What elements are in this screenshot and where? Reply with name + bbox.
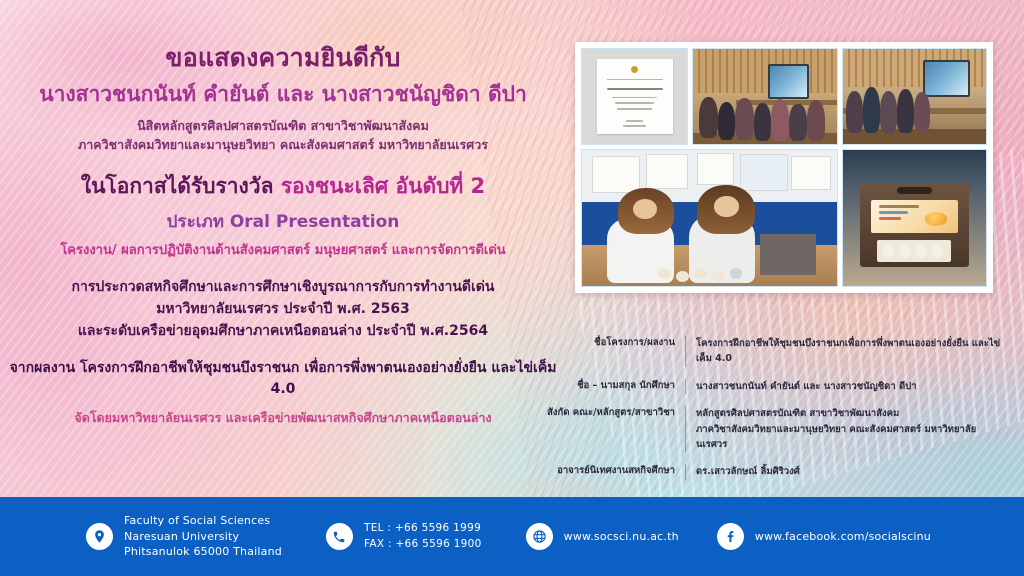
announcement-text-column: ขอแสดงความยินดีกับ นางสาวชนกนันท์ คำยันต… xyxy=(0,44,566,428)
affiliation-block: นิสิตหลักสูตรศิลปศาสตรบัณฑิต สาขาวิชาพัฒ… xyxy=(0,116,566,155)
affiliation-line-1: นิสิตหลักสูตรศิลปศาสตรบัณฑิต สาขาวิชาพัฒ… xyxy=(0,116,566,135)
contact-footer: Faculty of Social Sciences Naresuan Univ… xyxy=(0,497,1024,576)
award-project-category: โครงงาน/ ผลการปฏิบัติงานด้านสังคมศาสตร์ … xyxy=(0,242,566,260)
facebook-icon xyxy=(717,523,744,550)
phone-icon xyxy=(326,523,353,550)
info-label: ชื่อโครงการ/ผลงาน xyxy=(545,336,685,350)
info-label: ชื่อ – นามสกุล นักศึกษา xyxy=(545,379,685,393)
product-box-photo xyxy=(842,149,987,287)
award-rank: รองชนะเลิศ อันดับที่ 2 xyxy=(281,174,485,198)
congratulations-poster: ขอแสดงความยินดีกับ นางสาวชนกนันท์ คำยันต… xyxy=(0,0,1024,576)
fax-number: FAX : +66 5596 1900 xyxy=(364,537,482,552)
info-label: สังกัด คณะ/หลักสูตร/สาขาวิชา xyxy=(545,406,685,420)
meeting-room-photo-2 xyxy=(842,48,987,145)
contest-line-2: มหาวิทยาลัยนเรศวร ประจำปี พ.ศ. 2563 xyxy=(0,299,566,321)
address-line-2: Naresuan University xyxy=(124,529,282,545)
project-info-table: ชื่อโครงการ/ผลงาน โครงการฝึกอาชีพให้ชุมช… xyxy=(545,336,1005,492)
location-pin-icon xyxy=(86,523,113,550)
award-line: ในโอกาสได้รับรางวัล รองชนะเลิศ อันดับที่… xyxy=(0,173,566,199)
info-label: อาจารย์นิเทศงานสหกิจศึกษา xyxy=(545,464,685,478)
info-value: นางสาวชนกนันท์ คำยันต์ และ นางสาวชนัญชิด… xyxy=(685,379,1005,394)
contest-block: การประกวดสหกิจศึกษาและการศึกษาเชิงบูรณาก… xyxy=(0,277,566,342)
globe-icon xyxy=(526,523,553,550)
congratulations-heading: ขอแสดงความยินดีกับ xyxy=(0,44,566,73)
info-row: อาจารย์นิเทศงานสหกิจศึกษา ดร.เสาวลักษณ์ … xyxy=(545,464,1005,479)
info-row: ชื่อโครงการ/ผลงาน โครงการฝึกอาชีพให้ชุมช… xyxy=(545,336,1005,367)
info-value: หลักสูตรศิลปศาสตรบัณฑิต สาขาวิชาพัฒนาสัง… xyxy=(685,406,1005,452)
footer-address-item: Faculty of Social Sciences Naresuan Univ… xyxy=(86,513,282,561)
contest-line-3: และระดับเครือข่ายอุดมศึกษาภาคเหนือตอนล่า… xyxy=(0,321,566,343)
footer-phone-item: TEL : +66 5596 1999 FAX : +66 5596 1900 xyxy=(326,521,482,551)
footer-address-text: Faculty of Social Sciences Naresuan Univ… xyxy=(124,513,282,561)
affiliation-line-2: ภาควิชาสังคมวิทยาและมานุษยวิทยา คณะสังคม… xyxy=(0,135,566,154)
students-working-photo xyxy=(581,149,838,287)
address-line-3: Phitsanulok 65000 Thailand xyxy=(124,544,282,560)
meeting-room-photo-1 xyxy=(692,48,837,145)
telephone-number: TEL : +66 5596 1999 xyxy=(364,521,482,536)
info-value: โครงการฝึกอาชีพให้ชุมชนบึงราชนกเพื่อการพ… xyxy=(685,336,1005,367)
award-prefix: ในโอกาสได้รับรางวัล xyxy=(81,174,281,198)
facebook-url[interactable]: www.facebook.com/socialscinu xyxy=(755,529,931,545)
address-line-1: Faculty of Social Sciences xyxy=(124,513,282,529)
info-row: สังกัด คณะ/หลักสูตร/สาขาวิชา หลักสูตรศิล… xyxy=(545,406,1005,452)
awardee-names: นางสาวชนกนันท์ คำยันต์ และ นางสาวชนัญชิด… xyxy=(0,82,566,107)
info-row: ชื่อ – นามสกุล นักศึกษา นางสาวชนกนันท์ ค… xyxy=(545,379,1005,394)
footer-facebook-item[interactable]: www.facebook.com/socialscinu xyxy=(717,523,931,550)
award-presentation-type: ประเภท Oral Presentation xyxy=(0,208,566,235)
footer-phone-text: TEL : +66 5596 1999 FAX : +66 5596 1900 xyxy=(364,521,482,551)
contest-line-1: การประกวดสหกิจศึกษาและการศึกษาเชิงบูรณาก… xyxy=(0,277,566,299)
footer-website-item[interactable]: www.socsci.nu.ac.th xyxy=(526,523,679,550)
website-url[interactable]: www.socsci.nu.ac.th xyxy=(564,529,679,545)
photo-collage xyxy=(575,42,993,293)
work-title-line: จากผลงาน โครงการฝึกอาชีพให้ชุมชนบึงราชนก… xyxy=(0,358,566,400)
certificate-photo xyxy=(581,48,688,145)
info-value: ดร.เสาวลักษณ์ ลิ้มศิริวงศ์ xyxy=(685,464,1005,479)
organizer-line: จัดโดยมหาวิทยาลัยนเรศวร และเครือข่ายพัฒน… xyxy=(0,408,566,428)
